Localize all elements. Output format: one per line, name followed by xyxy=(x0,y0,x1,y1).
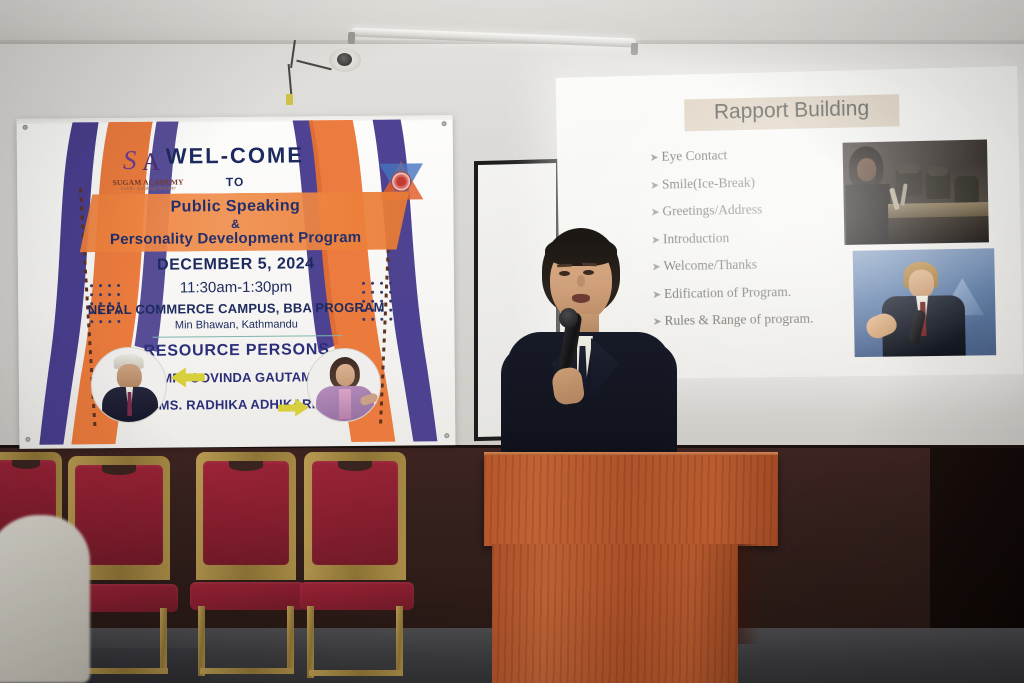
speaker-eye-right xyxy=(583,270,594,275)
slide-title: Rapport Building xyxy=(684,96,899,125)
event-banner: S A SUGAM ACADEMY Public Speaking Instit… xyxy=(17,115,456,449)
hanging-wire-tag-icon xyxy=(286,94,293,105)
banner-grommet-tr xyxy=(442,121,447,126)
tube-light-cap-right xyxy=(631,43,638,55)
tube-light-cap-left xyxy=(348,32,355,44)
podium-base-grain xyxy=(492,544,738,683)
student-speaker-at-podium xyxy=(493,228,683,478)
slide-photo-man-presenting xyxy=(853,248,997,357)
arrow-left-icon xyxy=(171,367,186,387)
bullet-text: Smile(Ice-Break) xyxy=(662,174,755,192)
speaker-eye-left xyxy=(559,271,570,276)
bullet-chevron-icon: ➤ xyxy=(649,151,661,164)
ceiling-speaker-dome-center xyxy=(337,53,352,66)
banner-welcome-heading: WEL-COME xyxy=(17,142,453,169)
seated-audience-member xyxy=(0,515,90,683)
banner-grommet-bl xyxy=(25,437,30,442)
arrow-right-icon xyxy=(295,398,309,416)
arrow-left-tail xyxy=(185,373,205,381)
podium-top-panel xyxy=(484,455,778,546)
seminar-photo: S A SUGAM ACADEMY Public Speaking Instit… xyxy=(0,0,1024,683)
bullet-chevron-icon: ➤ xyxy=(651,206,663,219)
bullet-text: Edification of Program. xyxy=(664,283,791,301)
banner-grommet-tl xyxy=(23,125,28,130)
speaker-hand xyxy=(551,366,586,406)
slide-photo-woman-at-podium xyxy=(843,139,989,244)
speaker-hair-front xyxy=(545,236,617,266)
bullet-text: Rules & Range of program. xyxy=(664,311,813,329)
banner-grommet-br xyxy=(444,433,449,438)
bullet-text: Greetings/Address xyxy=(662,201,762,219)
podium-side-shadow xyxy=(738,544,762,644)
dark-corner-right xyxy=(930,448,1024,638)
podium-base xyxy=(492,544,738,683)
resource-person-photo-female xyxy=(307,348,382,423)
bullet-chevron-icon: ➤ xyxy=(650,178,662,191)
resource-person-photo-male xyxy=(91,347,168,424)
speaker-mouth xyxy=(572,294,590,303)
speaker-nose xyxy=(577,275,585,287)
podium-wood-grain xyxy=(484,455,778,546)
arrow-right-tail xyxy=(278,404,297,411)
bullet-text: Eye Contact xyxy=(661,147,727,164)
